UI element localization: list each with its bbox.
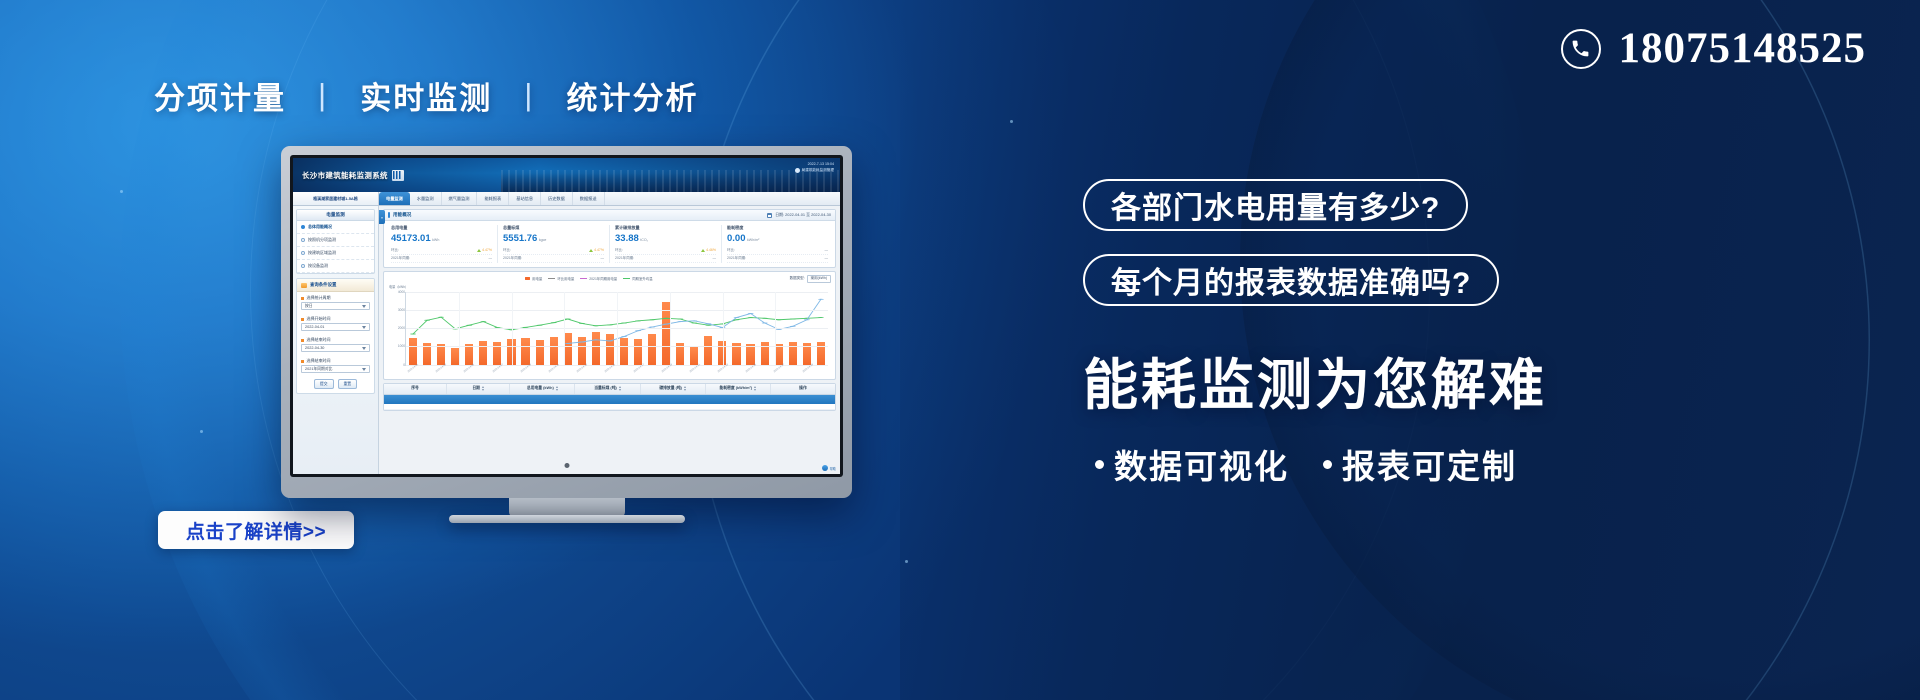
title-accent-bar — [388, 212, 390, 218]
tab-report[interactable]: 能耗报表 — [477, 192, 509, 205]
end-date-input[interactable]: 2022-04-30 — [301, 344, 370, 352]
field-label-end: 选择结束时间 — [297, 334, 374, 344]
kpi-value-wrap: 45173.01 kWh — [391, 234, 492, 244]
chart-point — [410, 333, 416, 334]
kpi-year-row: 2021年同期: — — [503, 255, 604, 263]
kpi-row: 总用电量 45173.01 kWh 环比: — [384, 221, 835, 267]
tagline-separator-2: 丨 — [513, 81, 546, 116]
overview-panel: 用能概况 日期: 2022-04-01 至 2022-04-30 总用电量 — [383, 209, 836, 268]
chevron-down-icon — [362, 368, 366, 371]
data-table: 序号日期总用电量 (kWh)当量标煤 (吨)碳排放量 (吨)能耗密度 (kWh/… — [383, 383, 836, 411]
bullet-icon — [301, 238, 305, 242]
app-header: 长沙市建筑能耗监测系统 2022-7-13 15:04 局建筑能耗监测管理 — [293, 158, 840, 192]
kpi-year-value: — — [713, 256, 717, 260]
kpi-label: 能耗密度 — [727, 225, 828, 231]
kpi-value-wrap: 0.00 kWh/m² — [727, 234, 828, 244]
kpi-delta: 4.47% — [589, 248, 604, 252]
kpi-compare-row: 环比: 4.46% — [615, 247, 716, 255]
period-select[interactable]: 按日 — [301, 302, 370, 310]
kpi-compare-label: 环比: — [503, 248, 511, 253]
chart-canvas: 电量（kWh） 01000200030004000 2022-04-012022… — [388, 285, 831, 377]
trend-up-icon — [477, 249, 481, 252]
kpi-value: 5551.76 — [503, 234, 537, 244]
chart-point — [480, 321, 486, 322]
sidebar-item-overview[interactable]: 总体用能概况 — [297, 221, 374, 234]
chart-point — [551, 322, 557, 323]
help-badge[interactable]: 帮助 — [822, 465, 836, 471]
date-range-text: 日期: 2022-04-01 至 2022-04-30 — [775, 212, 831, 218]
kpi-delta-value: 4.47% — [594, 248, 604, 252]
chart-x-axis-labels: 2022-04-012022-04-032022-04-052022-04-07… — [405, 367, 828, 377]
bullet-label-2: 报表可定制 — [1342, 440, 1517, 488]
filter-actions: 提交 重置 — [297, 376, 374, 393]
square-bullet-icon — [301, 360, 304, 363]
period-select-value: 按日 — [305, 304, 313, 309]
question-pill-2: 每个月的报表数据准确吗? — [1083, 254, 1499, 306]
kpi-value: 0.00 — [727, 234, 746, 244]
chart-point — [804, 317, 810, 318]
chart-point — [438, 316, 444, 317]
kpi-unit: kWh — [432, 239, 439, 243]
kpi-delta-value: — — [825, 248, 829, 252]
app-timestamp: 2022-7-13 15:04 — [808, 162, 834, 166]
kpi-year-label: 2021年同期: — [615, 256, 634, 261]
chart-y-tick-label: 1000 — [390, 344, 405, 348]
submit-button[interactable]: 提交 — [314, 379, 334, 389]
phone-icon — [1561, 29, 1601, 69]
bullet-item-1: 数据可视化 — [1095, 440, 1289, 488]
chart-point — [663, 317, 669, 318]
calendar-icon — [767, 213, 772, 218]
monitor-base — [449, 515, 685, 523]
chart-point — [537, 324, 543, 325]
kpi-value-wrap: 5551.76 kgce — [503, 234, 604, 244]
tagline-part-2: 实时监测 — [360, 81, 492, 116]
question-pill-1: 各部门水电用量有多少? — [1083, 179, 1468, 231]
bullet-icon — [301, 251, 305, 255]
start-date-value: 2022-04-01 — [305, 325, 324, 329]
chart-point — [705, 324, 711, 325]
tagline-part-1: 分项计量 — [154, 81, 286, 116]
legend-label: 同期室外均温 — [632, 276, 652, 281]
data-type-label: 数据类型: — [790, 276, 805, 281]
legend-item-lastyear[interactable]: 2021年同期用电量 — [580, 276, 617, 281]
chart-legend: 用电量 环比用电量 2021年同期用电量 — [525, 276, 652, 281]
chart-point — [790, 318, 796, 319]
data-type-select[interactable]: 数据类型: 案用(kWh) — [790, 275, 831, 283]
kpi-compare-rows: 环比: 4.47% 2021年同期: — [391, 247, 492, 263]
banner-bullets: 数据可视化 报表可定制 — [1095, 440, 1517, 488]
chart-point — [762, 322, 768, 323]
chart-y-tick-label: 2000 — [390, 326, 405, 330]
kpi-year-value: — — [489, 256, 493, 260]
chart-plot-area: 01000200030004000 — [405, 292, 828, 366]
kpi-card-density: 能耗密度 0.00 kWh/m² 环比: — — [722, 225, 833, 263]
kpi-label: 累计碳排放量 — [615, 225, 716, 231]
help-badge-label: 帮助 — [830, 466, 836, 471]
chart-point — [424, 319, 430, 320]
sidebar-item-label: 按建筑区域监测 — [308, 250, 336, 256]
kpi-delta: 4.47% — [477, 248, 492, 252]
sidebar-item-label: 按设备监测 — [308, 263, 328, 269]
kpi-compare-rows: 环比: 4.47% 2021年同期: — [503, 247, 604, 263]
table-column-header[interactable]: 碳排放量 (吨) — [641, 384, 706, 394]
bullet-dot-icon — [1323, 460, 1332, 469]
kpi-year-label: 2021年同期: — [391, 256, 410, 261]
table-header-row: 序号日期总用电量 (kWh)当量标煤 (吨)碳排放量 (吨)能耗密度 (kWh/… — [384, 384, 835, 395]
chart-vgridline — [670, 292, 671, 365]
table-column-header[interactable]: 操作 — [771, 384, 835, 394]
chart-point — [635, 320, 641, 321]
overview-panel-header: 用能概况 日期: 2022-04-01 至 2022-04-30 — [384, 210, 835, 221]
table-column-label: 操作 — [799, 386, 807, 391]
table-column-header[interactable]: 总用电量 (kWh) — [510, 384, 575, 394]
data-type-value: 案用(kWh) — [807, 275, 831, 283]
legend-swatch — [548, 278, 555, 280]
chart-y-axis-title: 电量（kWh） — [389, 284, 408, 289]
kpi-label: 总用电量 — [391, 225, 492, 231]
kpi-year-row: 2021年同期: — — [727, 255, 828, 263]
app-screenshot: 长沙市建筑能耗监测系统 2022-7-13 15:04 局建筑能耗监测管理 格溪… — [293, 158, 840, 474]
chart-point — [818, 298, 824, 299]
kpi-card-standard-coal: 总量标煤 5551.76 kgce 环比: — [498, 225, 610, 263]
learn-more-button[interactable]: 点击了解详情>> — [158, 511, 354, 549]
legend-item-temp[interactable]: 同期室外均温 — [623, 276, 652, 281]
table-row[interactable] — [384, 404, 835, 410]
sort-icon[interactable] — [556, 386, 558, 391]
chart-point — [734, 317, 740, 318]
sort-icon[interactable] — [619, 386, 621, 391]
field-label-text: 选择统计周期 — [307, 295, 331, 301]
table-column-header[interactable]: 日期 — [447, 384, 510, 394]
sidebar-item-label: 按照机分项监测 — [308, 237, 336, 243]
app-title: 长沙市建筑能耗监测系统 — [302, 170, 388, 181]
chart-point — [579, 322, 585, 323]
sidebar-item-label: 总体用能概况 — [308, 224, 332, 230]
contact-phone[interactable]: 18075148525 — [1561, 27, 1867, 70]
monitor-power-led — [564, 463, 569, 468]
chevron-down-icon — [362, 305, 366, 308]
app-user: 局建筑能耗监测管理 — [795, 167, 834, 173]
chart-point — [705, 323, 711, 324]
chart-y-tick-label: 4000 — [390, 290, 405, 294]
tab-data-submit[interactable]: 数据报送 — [573, 192, 605, 205]
chart-point — [607, 340, 613, 341]
app-nav: 格溪湖家居建材城1-5A栋 电量监测 水量监测 燃气量监测 能耗报表 基站信息 … — [293, 192, 840, 206]
question-pill-2-label: 每个月的报表数据准确吗? — [1111, 258, 1471, 302]
table-column-label: 碳排放量 (吨) — [659, 386, 682, 391]
chart-point — [635, 330, 641, 331]
sidebar-item-by-device[interactable]: 按设备监测 — [297, 260, 374, 273]
kpi-delta: 4.46% — [701, 248, 716, 252]
table-column-label: 当量标煤 (吨) — [594, 386, 617, 391]
chart-point — [607, 324, 613, 325]
kpi-delta-value: 4.46% — [706, 248, 716, 252]
chart-point — [649, 326, 655, 327]
chart-point — [565, 318, 571, 319]
kpi-year-value: — — [825, 256, 829, 260]
kpi-compare-row: 环比: 4.47% — [503, 247, 604, 255]
calendar-icon — [362, 326, 366, 329]
legend-item-chain[interactable]: 环比用电量 — [548, 276, 574, 281]
square-bullet-icon — [301, 318, 304, 321]
field-label-text: 选择开始时间 — [307, 316, 331, 322]
bullet-dot-icon — [1095, 460, 1104, 469]
phone-number: 18075148525 — [1619, 27, 1867, 70]
sort-icon[interactable] — [684, 386, 686, 391]
chart-point — [818, 317, 824, 318]
kpi-compare-label: 环比: — [727, 248, 735, 253]
app-header-meta: 2022-7-13 15:04 局建筑能耗监测管理 — [795, 161, 834, 173]
chart-y-tick-label: 3000 — [390, 308, 405, 312]
chart-point — [762, 317, 768, 318]
bullet-icon — [301, 264, 305, 268]
kpi-compare-rows: 环比: 4.46% 2021年同期: — [615, 247, 716, 263]
chart-y-tick-label: 0 — [390, 363, 405, 367]
app-user-label: 局建筑能耗监测管理 — [802, 167, 834, 173]
chart-vgridline — [775, 292, 776, 365]
chart-point — [621, 322, 627, 323]
avatar-icon — [795, 168, 800, 173]
monitor-bezel: 长沙市建筑能耗监测系统 2022-7-13 15:04 局建筑能耗监测管理 格溪… — [290, 155, 843, 477]
filter-card: 查询条件设置 选择统计周期 按日 — [296, 278, 375, 394]
start-date-input[interactable]: 2022-04-01 — [301, 323, 370, 331]
kpi-compare-label: 环比: — [615, 248, 623, 253]
app-content: 用能概况 日期: 2022-04-01 至 2022-04-30 总用电量 — [379, 206, 840, 474]
sidebar-section-title: 电量监测 — [297, 210, 374, 221]
chart-point — [593, 339, 599, 340]
sidebar-nav-card: 电量监测 总体用能概况 按照机分项监测 按建筑区域监 — [296, 209, 375, 274]
trend-up-icon — [701, 249, 705, 252]
field-label-period: 选择统计周期 — [297, 292, 374, 302]
date-range-label[interactable]: 日期: 2022-04-01 至 2022-04-30 — [767, 212, 831, 218]
monitor-mockup: 长沙市建筑能耗监测系统 2022-7-13 15:04 局建筑能耗监测管理 格溪… — [281, 146, 852, 498]
chart-vgridline — [564, 292, 565, 365]
legend-swatch — [580, 278, 587, 280]
kpi-year-value: — — [601, 256, 605, 260]
compare-select-value: 2021年同期对比 — [305, 367, 332, 372]
bullet-icon — [301, 225, 305, 229]
legend-swatch — [623, 278, 630, 280]
kpi-card-carbon: 累计碳排放量 33.88 tCO₂ 环比: — [610, 225, 722, 263]
bullet-label-1: 数据可视化 — [1114, 440, 1289, 488]
promo-banner: 分项计量 丨 实时监测 丨 统计分析 18075148525 各部门水电用量有多… — [0, 0, 1920, 700]
banner-headline: 能耗监测为您解难 — [1083, 340, 1547, 420]
kpi-label: 总量标煤 — [503, 225, 604, 231]
kpi-year-label: 2021年同期: — [503, 256, 522, 261]
legend-item-usage[interactable]: 用电量 — [525, 276, 542, 281]
chart-point — [466, 324, 472, 325]
chart-toolbar: 用电量 环比用电量 2021年同期用电量 — [388, 275, 831, 283]
kpi-compare-label: 环比: — [391, 248, 399, 253]
chart-point — [691, 322, 697, 323]
chart-point — [579, 341, 585, 342]
kpi-unit: kgce — [539, 239, 547, 243]
tagline-separator-1: 丨 — [307, 81, 340, 116]
table-column-label: 总用电量 (kWh) — [527, 386, 554, 391]
tab-station-info[interactable]: 基站信息 — [509, 192, 541, 205]
sidebar-item-by-subitem[interactable]: 按照机分项监测 — [297, 234, 374, 247]
filter-title: 查询条件设置 — [297, 279, 374, 292]
chart-point — [748, 313, 754, 314]
chart-vgridline — [617, 292, 618, 365]
chart-point — [565, 342, 571, 343]
kpi-unit: tCO₂ — [640, 239, 648, 243]
square-bullet-icon — [301, 297, 304, 300]
compare-select[interactable]: 2021年同期对比 — [301, 365, 370, 373]
chart-point — [790, 325, 796, 326]
app-logo-icon — [392, 170, 404, 181]
table-row[interactable] — [384, 395, 835, 404]
sort-icon[interactable] — [482, 386, 484, 391]
chart-point — [663, 323, 669, 324]
kpi-compare-row: 环比: — — [727, 247, 828, 255]
legend-label: 2021年同期用电量 — [589, 276, 617, 281]
tab-history[interactable]: 历史数据 — [541, 192, 573, 205]
table-column-label: 日期 — [472, 386, 480, 391]
chart-point — [691, 320, 697, 321]
kpi-value: 33.88 — [615, 234, 639, 244]
legend-label: 环比用电量 — [557, 276, 574, 281]
legend-label: 用电量 — [532, 276, 542, 281]
table-column-header[interactable]: 当量标煤 (吨) — [575, 384, 640, 394]
app-sidebar: 电量监测 总体用能概况 按照机分项监测 按建筑区域监 — [293, 206, 379, 474]
chart-point — [748, 317, 754, 318]
kpi-value-wrap: 33.88 tCO₂ — [615, 234, 716, 244]
kpi-year-row: 2021年同期: — — [391, 255, 492, 263]
chart-point — [649, 319, 655, 320]
chart-point — [677, 321, 683, 322]
sort-icon[interactable] — [754, 386, 756, 391]
bullet-item-2: 报表可定制 — [1323, 440, 1517, 488]
kpi-year-label: 2021年同期: — [727, 256, 746, 261]
table-column-label: 能耗密度 (kWh/m²) — [720, 386, 752, 391]
kpi-year-row: 2021年同期: — — [615, 255, 716, 263]
chart-point — [776, 319, 782, 320]
question-pill-1-label: 各部门水电用量有多少? — [1111, 183, 1440, 227]
filter-title-label: 查询条件设置 — [310, 282, 336, 288]
help-icon — [822, 465, 828, 471]
kpi-card-total-electricity: 总用电量 45173.01 kWh 环比: — [386, 225, 498, 263]
field-label-text: 选择结束时间 — [307, 337, 331, 343]
kpi-unit: kWh/m² — [747, 239, 759, 243]
reset-button[interactable]: 重置 — [338, 379, 358, 389]
chart-vgridline — [723, 292, 724, 365]
kpi-compare-rows: 环比: — 2021年同期: — — [727, 247, 828, 263]
tab-electricity[interactable]: 电量监测 — [379, 192, 410, 205]
chart-vgridline — [512, 292, 513, 365]
field-label-start: 选择开始时间 — [297, 313, 374, 323]
chart-line-环比用电量 — [568, 299, 821, 343]
field-label-text: 选择结束时间 — [307, 358, 331, 364]
chart-point — [621, 336, 627, 337]
nav-brand[interactable]: 格溪湖家居建材城1-5A栋 — [293, 192, 379, 205]
chart-vgridline — [459, 292, 460, 365]
overview-panel-title: 用能概况 — [388, 212, 411, 218]
banner-tagline: 分项计量 丨 实时监测 丨 统计分析 — [154, 73, 699, 118]
kpi-value: 45173.01 — [391, 234, 431, 244]
sidebar-collapse-button[interactable]: « — [379, 210, 385, 224]
field-label-compare: 选择结束时间 — [297, 355, 374, 365]
tab-water[interactable]: 水量监测 — [410, 192, 442, 205]
chart-panel: 用电量 环比用电量 2021年同期用电量 — [383, 271, 836, 380]
legend-swatch — [525, 277, 530, 281]
table-column-header[interactable]: 能耗密度 (kWh/m²) — [706, 384, 771, 394]
end-date-value: 2022-04-30 — [305, 346, 324, 350]
filter-icon — [301, 283, 307, 288]
overview-panel-title-label: 用能概况 — [393, 212, 411, 218]
table-column-header[interactable]: 序号 — [384, 384, 447, 394]
chart-point — [677, 318, 683, 319]
square-bullet-icon — [301, 339, 304, 342]
table-column-label: 序号 — [411, 386, 419, 391]
trend-up-icon — [589, 249, 593, 252]
chart-point — [593, 325, 599, 326]
calendar-icon — [362, 347, 366, 350]
kpi-delta-value: 4.47% — [482, 248, 492, 252]
sidebar-item-by-area[interactable]: 按建筑区域监测 — [297, 247, 374, 260]
kpi-compare-row: 环比: 4.47% — [391, 247, 492, 255]
app-body: 电量监测 总体用能概况 按照机分项监测 按建筑区域监 — [293, 206, 840, 474]
chart-point — [804, 319, 810, 320]
tab-gas[interactable]: 燃气量监测 — [442, 192, 478, 205]
tagline-part-3: 统计分析 — [567, 81, 699, 116]
